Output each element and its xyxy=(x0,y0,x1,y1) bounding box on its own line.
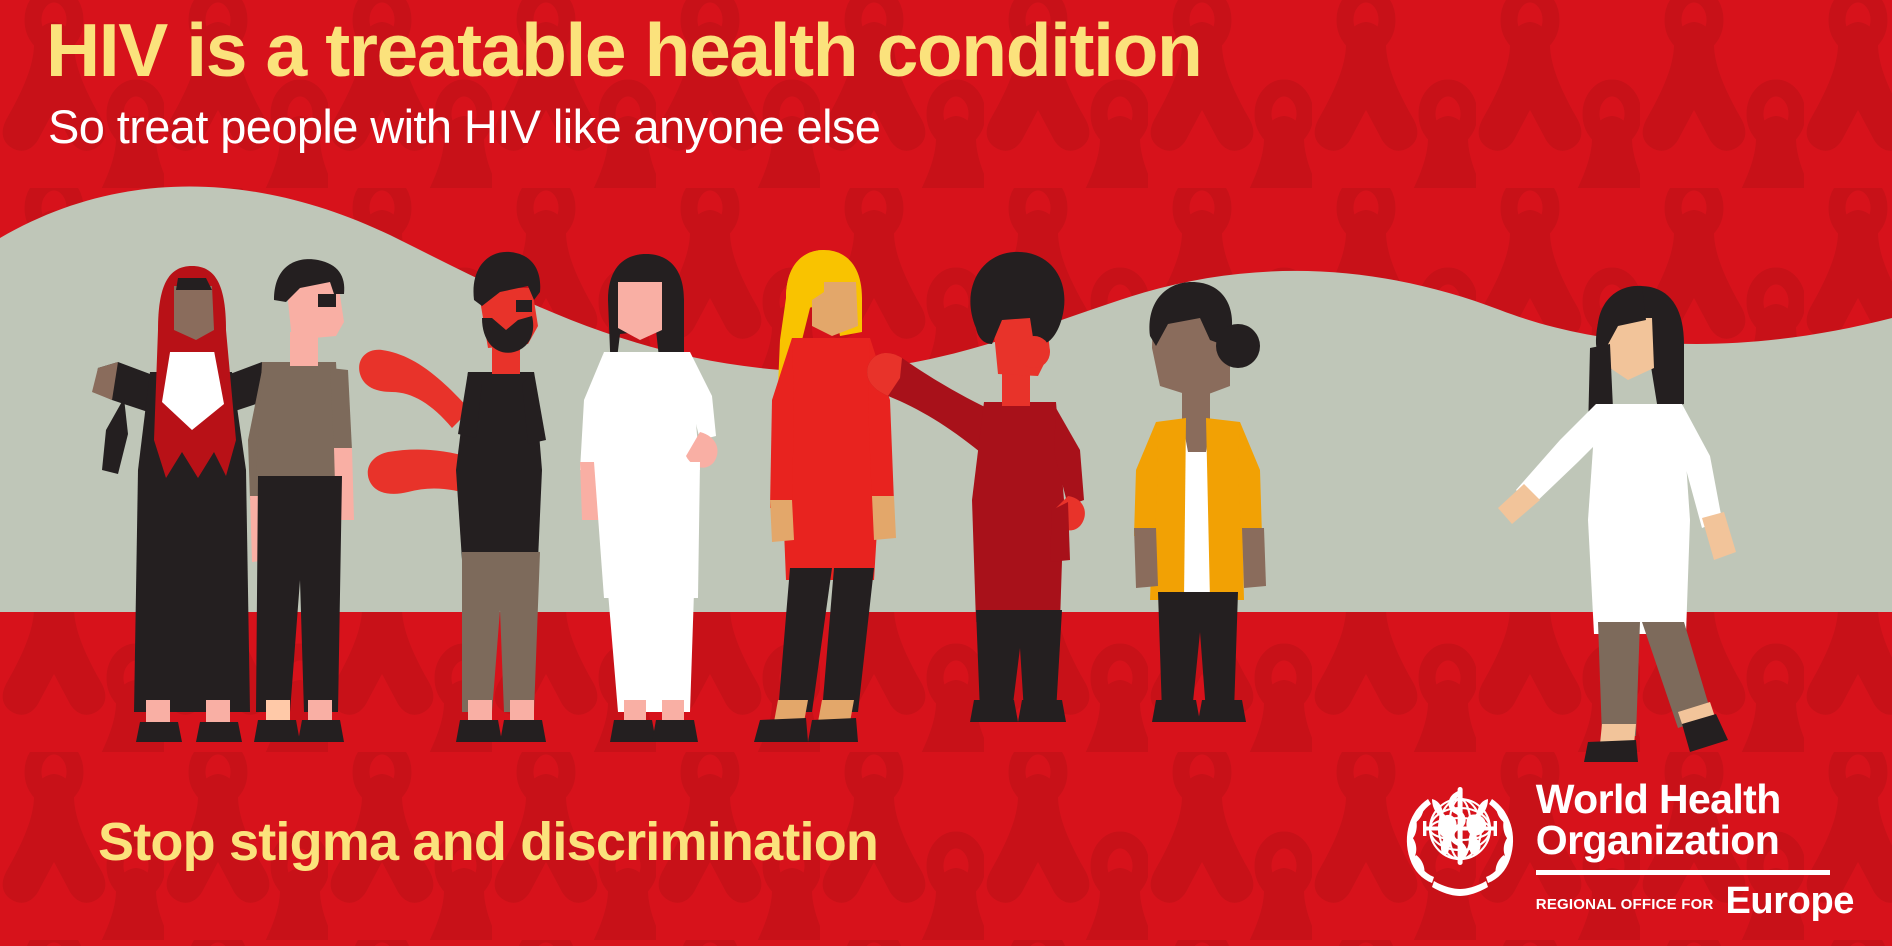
who-region-name: Europe xyxy=(1725,880,1854,922)
who-logo-divider xyxy=(1536,870,1830,875)
who-regional-office-label: REGIONAL OFFICE FOR xyxy=(1536,896,1714,913)
who-logo-line2: Organization xyxy=(1536,820,1854,861)
poster-canvas: HIV is a treatable health condition So t… xyxy=(0,0,1892,946)
who-europe-logo: World Health Organization REGIONAL OFFIC… xyxy=(1398,775,1854,920)
subtitle: So treat people with HIV like anyone els… xyxy=(48,102,880,151)
who-emblem-icon xyxy=(1398,777,1522,901)
page-title: HIV is a treatable health condition xyxy=(46,12,1201,89)
campaign-tagline: Stop stigma and discrimination xyxy=(98,811,878,873)
who-logo-line1: World Health xyxy=(1536,779,1854,820)
